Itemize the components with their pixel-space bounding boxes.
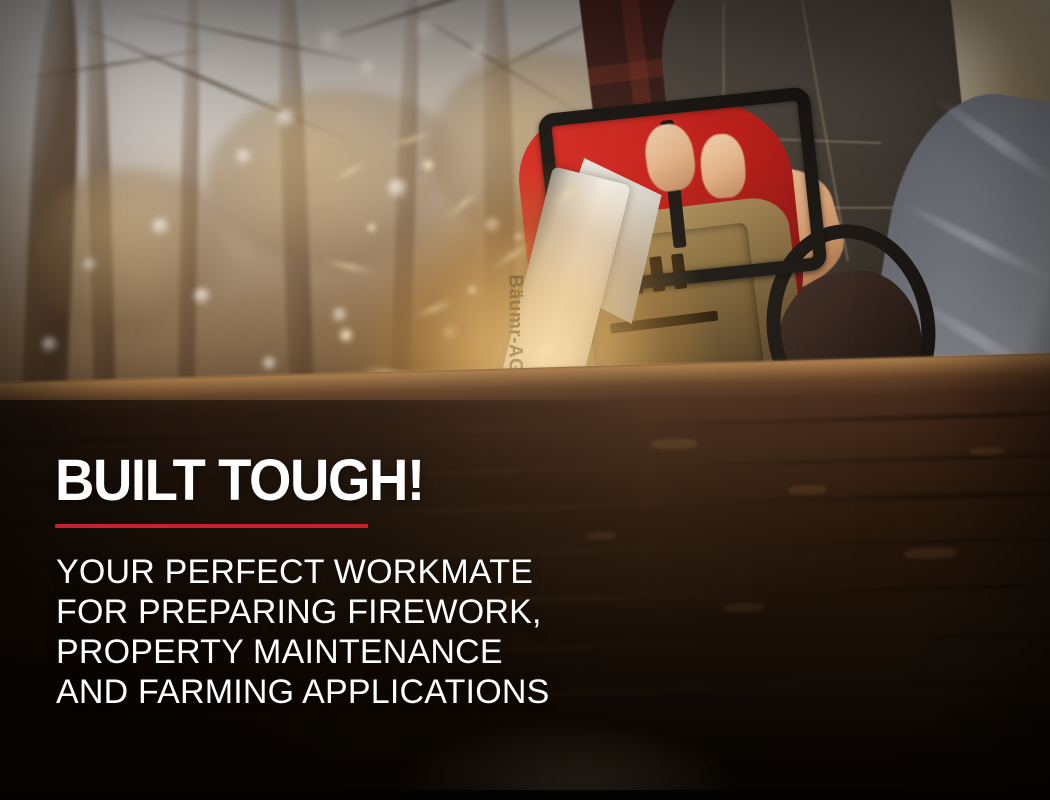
product-photo-scene: Bäumr-AG PRO 20" <box>0 0 1050 800</box>
promo-banner: Bäumr-AG PRO 20" <box>0 0 1050 800</box>
cut-sawdust-pile <box>357 656 735 800</box>
